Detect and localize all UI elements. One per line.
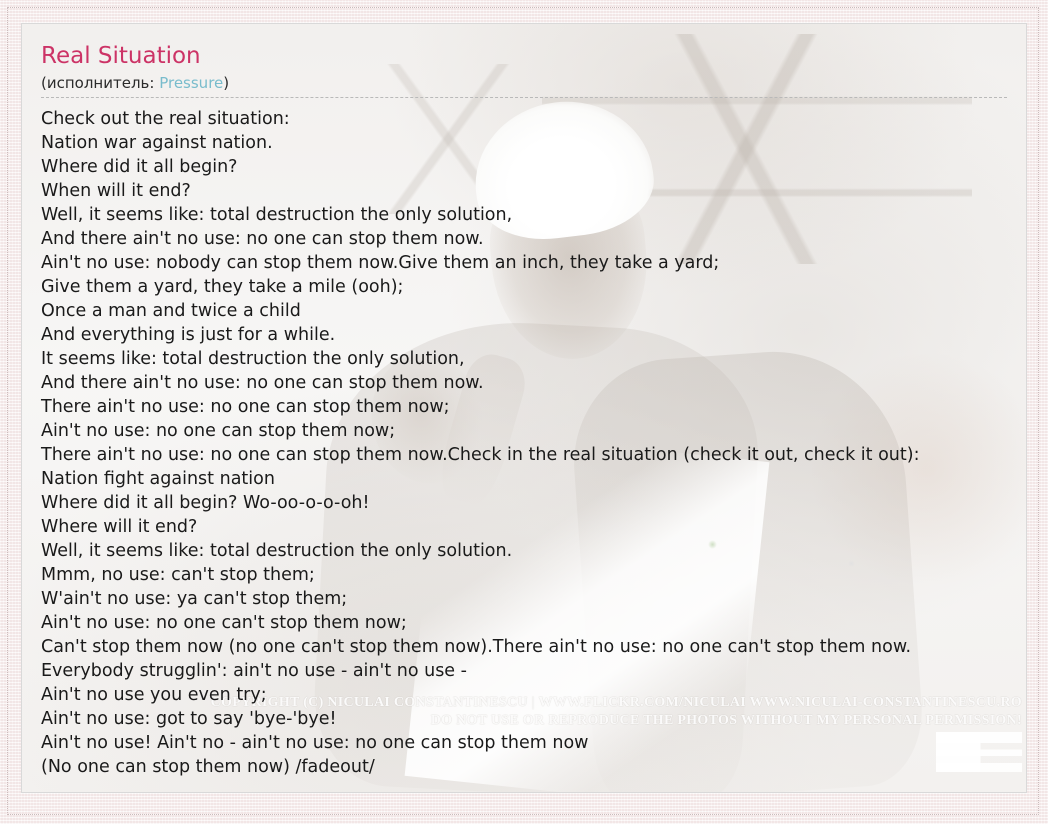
lyric-line: And there ain't no use: no one can stop …	[41, 371, 1026, 395]
lyric-line: Nation fight against nation	[41, 467, 1026, 491]
lyric-line: Where did it all begin? Wo-oo-o-o-oh!	[41, 491, 1026, 515]
lyric-line: Ain't no use: got to say 'bye-'bye!	[41, 707, 1026, 731]
lyric-line: Well, it seems like: total destruction t…	[41, 539, 1026, 563]
lyric-line: Once a man and twice a child	[41, 299, 1026, 323]
lyric-line: Ain't no use: no one can stop them now;	[41, 419, 1026, 443]
lyric-line: (No one can stop them now) /fadeout/	[41, 755, 1026, 779]
lyric-line: Can't stop them now (no one can't stop t…	[41, 635, 1026, 659]
lyric-line: Give them a yard, they take a mile (ooh)…	[41, 275, 1026, 299]
lyric-line: Where will it end?	[41, 515, 1026, 539]
lyric-line: Ain't no use you even try;	[41, 683, 1026, 707]
lyrics-body: Check out the real situation:Nation war …	[41, 107, 1026, 779]
lyric-line: It seems like: total destruction the onl…	[41, 347, 1026, 371]
artist-link[interactable]: Pressure	[159, 74, 223, 92]
lyric-line: There ain't no use: no one can stop them…	[41, 443, 1026, 467]
artist-prefix-label: (исполнитель:	[41, 74, 159, 92]
lyric-line: And everything is just for a while.	[41, 323, 1026, 347]
lyric-line: Everybody strugglin': ain't no use - ain…	[41, 659, 1026, 683]
lyric-line: W'ain't no use: ya can't stop them;	[41, 587, 1026, 611]
lyric-line: Nation war against nation.	[41, 131, 1026, 155]
lyric-line: When will it end?	[41, 179, 1026, 203]
title-separator	[41, 97, 1007, 98]
lyric-line: Ain't no use: nobody can stop them now.G…	[41, 251, 1026, 275]
lyric-line: Ain't no use: no one can't stop them now…	[41, 611, 1026, 635]
lyric-line: Check out the real situation:	[41, 107, 1026, 131]
lyric-line: Mmm, no use: can't stop them;	[41, 563, 1026, 587]
lyric-line: Where did it all begin?	[41, 155, 1026, 179]
lyric-line: There ain't no use: no one can stop them…	[41, 395, 1026, 419]
lyrics-content-sheet: COPYRIGHT (C) NICULAI CONSTANTINESCU | W…	[21, 23, 1027, 793]
page-title: Real Situation	[41, 42, 1026, 70]
lyrics-foreground: Real Situation (исполнитель: Pressure) C…	[22, 24, 1026, 779]
lyric-line: And there ain't no use: no one can stop …	[41, 227, 1026, 251]
artist-line: (исполнитель: Pressure)	[41, 73, 1026, 93]
lyric-line: Ain't no use! Ain't no - ain't no use: n…	[41, 731, 1026, 755]
artist-suffix-label: )	[223, 74, 229, 92]
lyric-line: Well, it seems like: total destruction t…	[41, 203, 1026, 227]
